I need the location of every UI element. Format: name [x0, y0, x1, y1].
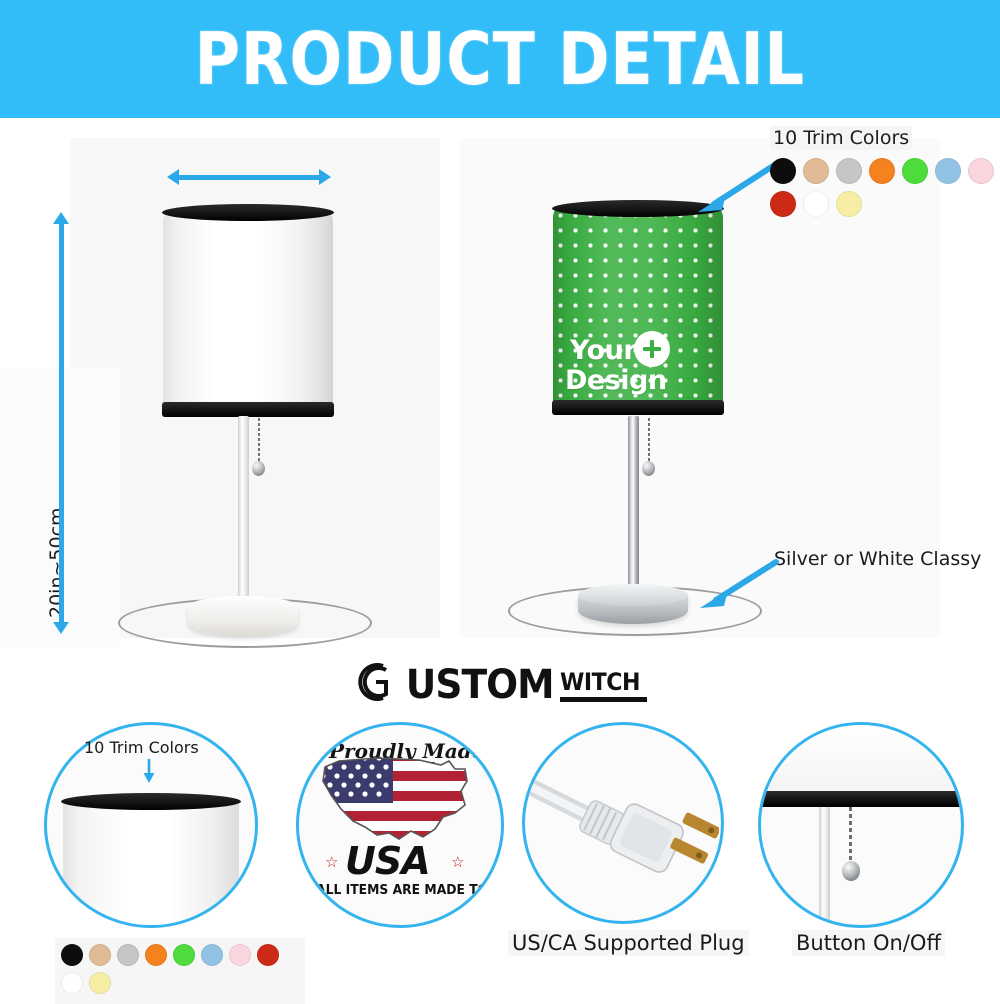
bottom-swatch-pink[interactable]: [229, 944, 251, 966]
arrow-icon: [694, 556, 784, 616]
product-detail-page: PRODUCT DETAIL 7in~18cm 20in~50cm: [0, 0, 1000, 1000]
made-in-usa-circle: Proudly Made in the: [296, 722, 504, 928]
switch-feature-caption: Button On/Off: [792, 930, 945, 956]
bottom-swatch-red[interactable]: [257, 944, 279, 966]
plus-circle-icon[interactable]: [634, 331, 670, 367]
design-text-line2: Design: [565, 366, 667, 396]
brand-secondary-text: WITCH: [560, 668, 640, 696]
white-lamp-chain-ball[interactable]: [252, 461, 265, 476]
trim-colors-title: 10 Trim Colors: [770, 126, 912, 150]
trim-colors-swatch-row: [770, 158, 1000, 217]
down-arrow-icon: [140, 758, 158, 789]
swatch-yellow[interactable]: [836, 191, 862, 217]
white-shade-top-trim: [162, 204, 334, 221]
white-lamp-base-top: [188, 596, 298, 618]
swatch-gray[interactable]: [836, 158, 862, 184]
switch-shade-surface: [761, 725, 961, 797]
plug-feature-circle: [522, 722, 724, 924]
green-lamp-base-top: [578, 584, 688, 606]
green-lamp-pole: [628, 416, 639, 612]
arrow-icon: [692, 158, 782, 220]
usa-star-right-icon: ☆: [451, 853, 464, 871]
bottom-swatch-orange[interactable]: [145, 944, 167, 966]
height-dimension-arrow: [59, 223, 64, 623]
plug-feature-caption: US/CA Supported Plug: [508, 930, 749, 956]
bottom-swatch-yellow[interactable]: [89, 972, 111, 994]
bottom-swatch-white[interactable]: [61, 972, 83, 994]
base-finish-pointer-arrow: [694, 556, 784, 621]
green-lamp-base: [578, 584, 688, 624]
usa-flag-map-icon: [315, 751, 487, 853]
brand-secondary-wrap: WITCH: [560, 668, 647, 702]
switch-pull-chain[interactable]: [849, 807, 852, 865]
design-text-line1: Your: [570, 336, 636, 366]
circle-c-icon: [353, 660, 399, 704]
bottom-swatch-tan[interactable]: [89, 944, 111, 966]
arrow-down-icon: [140, 758, 158, 784]
swatch-pink[interactable]: [968, 158, 994, 184]
swatch-orange[interactable]: [869, 158, 895, 184]
switch-chain-ball[interactable]: [842, 861, 860, 881]
swatch-black[interactable]: [770, 158, 796, 184]
brand-primary-text: USTOM: [406, 662, 554, 708]
trim-colors-pointer-arrow: [692, 158, 782, 225]
bottom-swatch-light-blue[interactable]: [201, 944, 223, 966]
width-dimension-arrow: [178, 175, 320, 180]
green-lamp-shade: Your Design: [553, 200, 723, 418]
trim-colors-feature-label: 10 Trim Colors: [84, 738, 199, 757]
white-lamp-pole: [238, 416, 249, 626]
white-lamp-base: [188, 596, 298, 636]
mini-shade-surface: [63, 799, 239, 928]
green-shade-bottom-trim: [552, 400, 724, 415]
white-lamp-pull-chain[interactable]: [258, 418, 260, 464]
switch-pole: [819, 807, 830, 925]
white-shade-surface: [163, 212, 333, 412]
swatch-red[interactable]: [770, 191, 796, 217]
green-lamp-chain-ball[interactable]: [642, 461, 655, 476]
power-plug-icon: [529, 771, 719, 881]
swatch-tan[interactable]: [803, 158, 829, 184]
bottom-swatch-green[interactable]: [173, 944, 195, 966]
brand-underline: [560, 697, 647, 702]
green-lamp-pull-chain[interactable]: [648, 418, 650, 464]
swatch-white[interactable]: [803, 191, 829, 217]
circle-c-logo-icon: [353, 660, 399, 709]
trim-colors-panel: 10 Trim Colors: [770, 126, 1000, 217]
usa-badge-big: USA: [345, 839, 430, 883]
white-shade-bottom-trim: [162, 402, 334, 417]
base-finish-label: Silver or White Classy: [774, 548, 981, 570]
bottom-swatch-row: [55, 938, 305, 1004]
header-banner: PRODUCT DETAIL: [0, 0, 1000, 118]
switch-feature-circle: [758, 722, 964, 928]
height-dimension-label: 20in~50cm: [46, 507, 68, 618]
switch-shade-trim: [758, 791, 964, 807]
page-title: PRODUCT DETAIL: [195, 23, 805, 95]
white-lamp-shade: [163, 204, 333, 420]
bottom-swatch-gray[interactable]: [117, 944, 139, 966]
bottom-swatch-black[interactable]: [61, 944, 83, 966]
mini-shade-trim: [61, 793, 241, 810]
brand-logo: USTOM WITCH: [0, 660, 1000, 709]
usa-star-left-icon: ☆: [325, 853, 338, 871]
swatch-green[interactable]: [902, 158, 928, 184]
usa-badge-sub: ALL ITEMS ARE MADE TO ORDER!: [316, 883, 504, 898]
swatch-light-blue[interactable]: [935, 158, 961, 184]
